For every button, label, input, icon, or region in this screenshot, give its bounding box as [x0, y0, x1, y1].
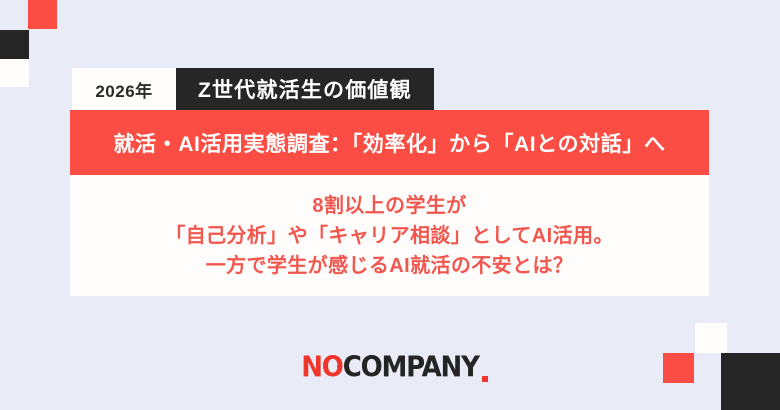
deco-square-top-left-dark: [0, 30, 29, 59]
logo-wordmark: NO COMPANY: [301, 353, 479, 383]
badge-theme: Z世代就活生の価値観: [176, 68, 434, 110]
logo: NO COMPANY: [0, 357, 780, 383]
body-line-2: 「自己分析」や「キャリア相談」としてAI活用。: [165, 221, 614, 251]
body-line-3: 一方で学生が感じるAI就活の不安とは？: [206, 251, 574, 281]
deco-square-bottom-right-white: [695, 323, 727, 353]
logo-text-company: COMPANY: [343, 352, 479, 384]
body-panel: 8割以上の学生が 「自己分析」や「キャリア相談」としてAI活用。 一方で学生が感…: [70, 175, 709, 296]
logo-square-accent-icon: [482, 376, 488, 382]
headline-text: 就活・AI活用実態調査：「効率化」から「AIとの対話」へ: [113, 128, 665, 158]
body-line-1: 8割以上の学生が: [312, 191, 466, 221]
deco-square-top-left-white: [0, 59, 29, 87]
deco-square-top-left-red: [28, 0, 57, 29]
headline-bar: 就活・AI活用実態調査：「効率化」から「AIとの対話」へ: [70, 110, 709, 175]
slide-canvas: 2026年 Z世代就活生の価値観 就活・AI活用実態調査：「効率化」から「AIと…: [0, 0, 780, 410]
badge-year: 2026年: [72, 68, 176, 110]
logo-text-no: NO: [301, 352, 342, 384]
badge-row: 2026年 Z世代就活生の価値観: [72, 68, 434, 110]
